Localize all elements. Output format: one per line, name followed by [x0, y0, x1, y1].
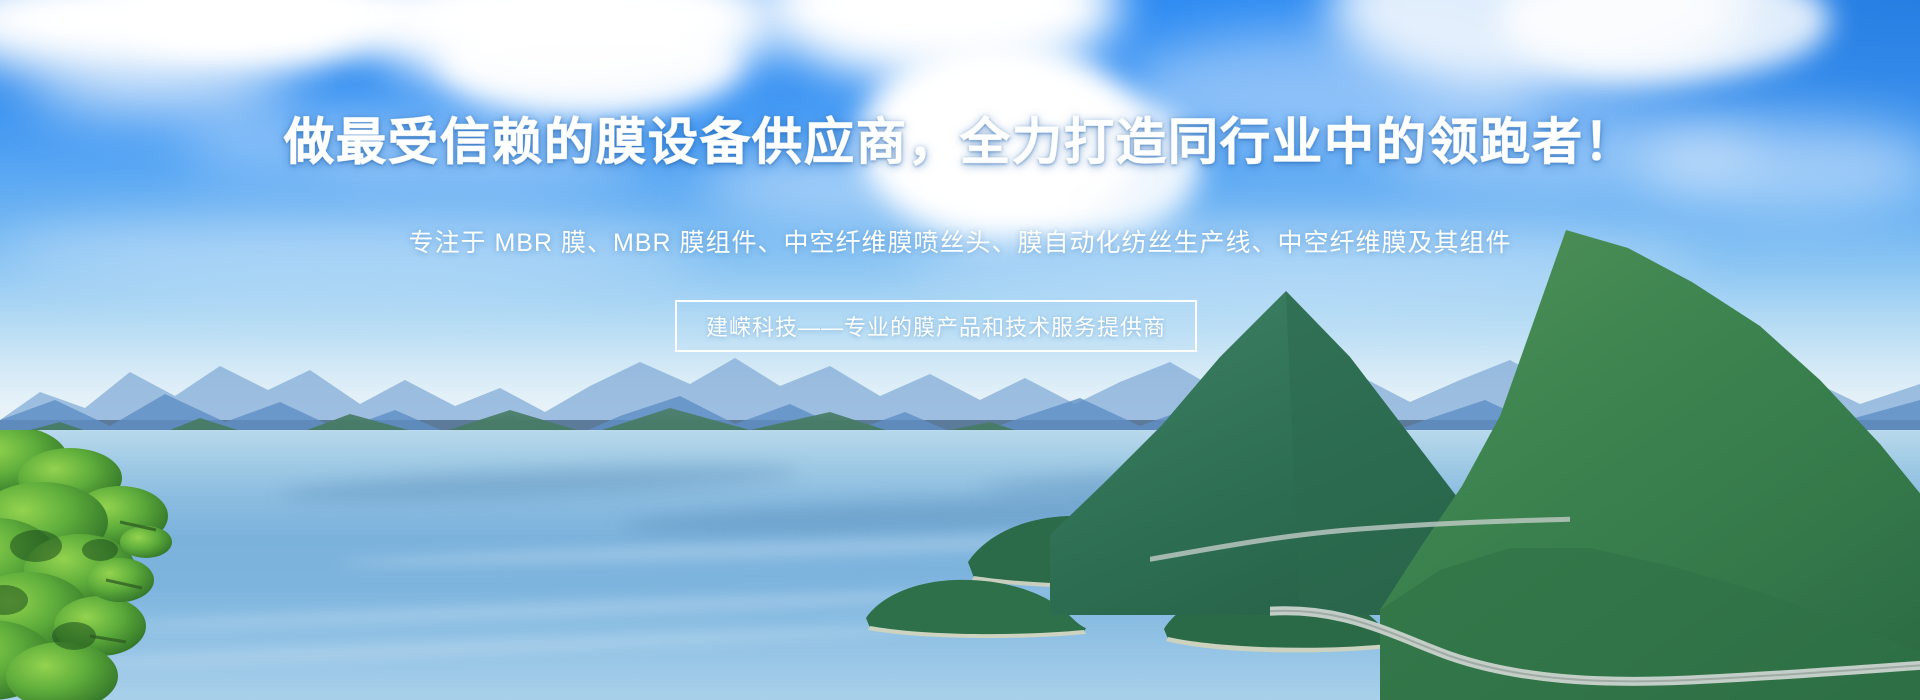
banner-subheadline: 专注于 MBR 膜、MBR 膜组件、中空纤维膜喷丝头、膜自动化纺丝生产线、中空纤…	[0, 226, 1920, 260]
hero-banner: 做最受信赖的膜设备供应商，全力打造同行业中的领跑者！ 专注于 MBR 膜、MBR…	[0, 0, 1920, 700]
banner-headline: 做最受信赖的膜设备供应商，全力打造同行业中的领跑者！	[0, 112, 1920, 172]
banner-tagline-box: 建嵘科技——专业的膜产品和技术服务提供商	[675, 300, 1197, 352]
banner-tagline-text: 建嵘科技——专业的膜产品和技术服务提供商	[706, 310, 1166, 342]
